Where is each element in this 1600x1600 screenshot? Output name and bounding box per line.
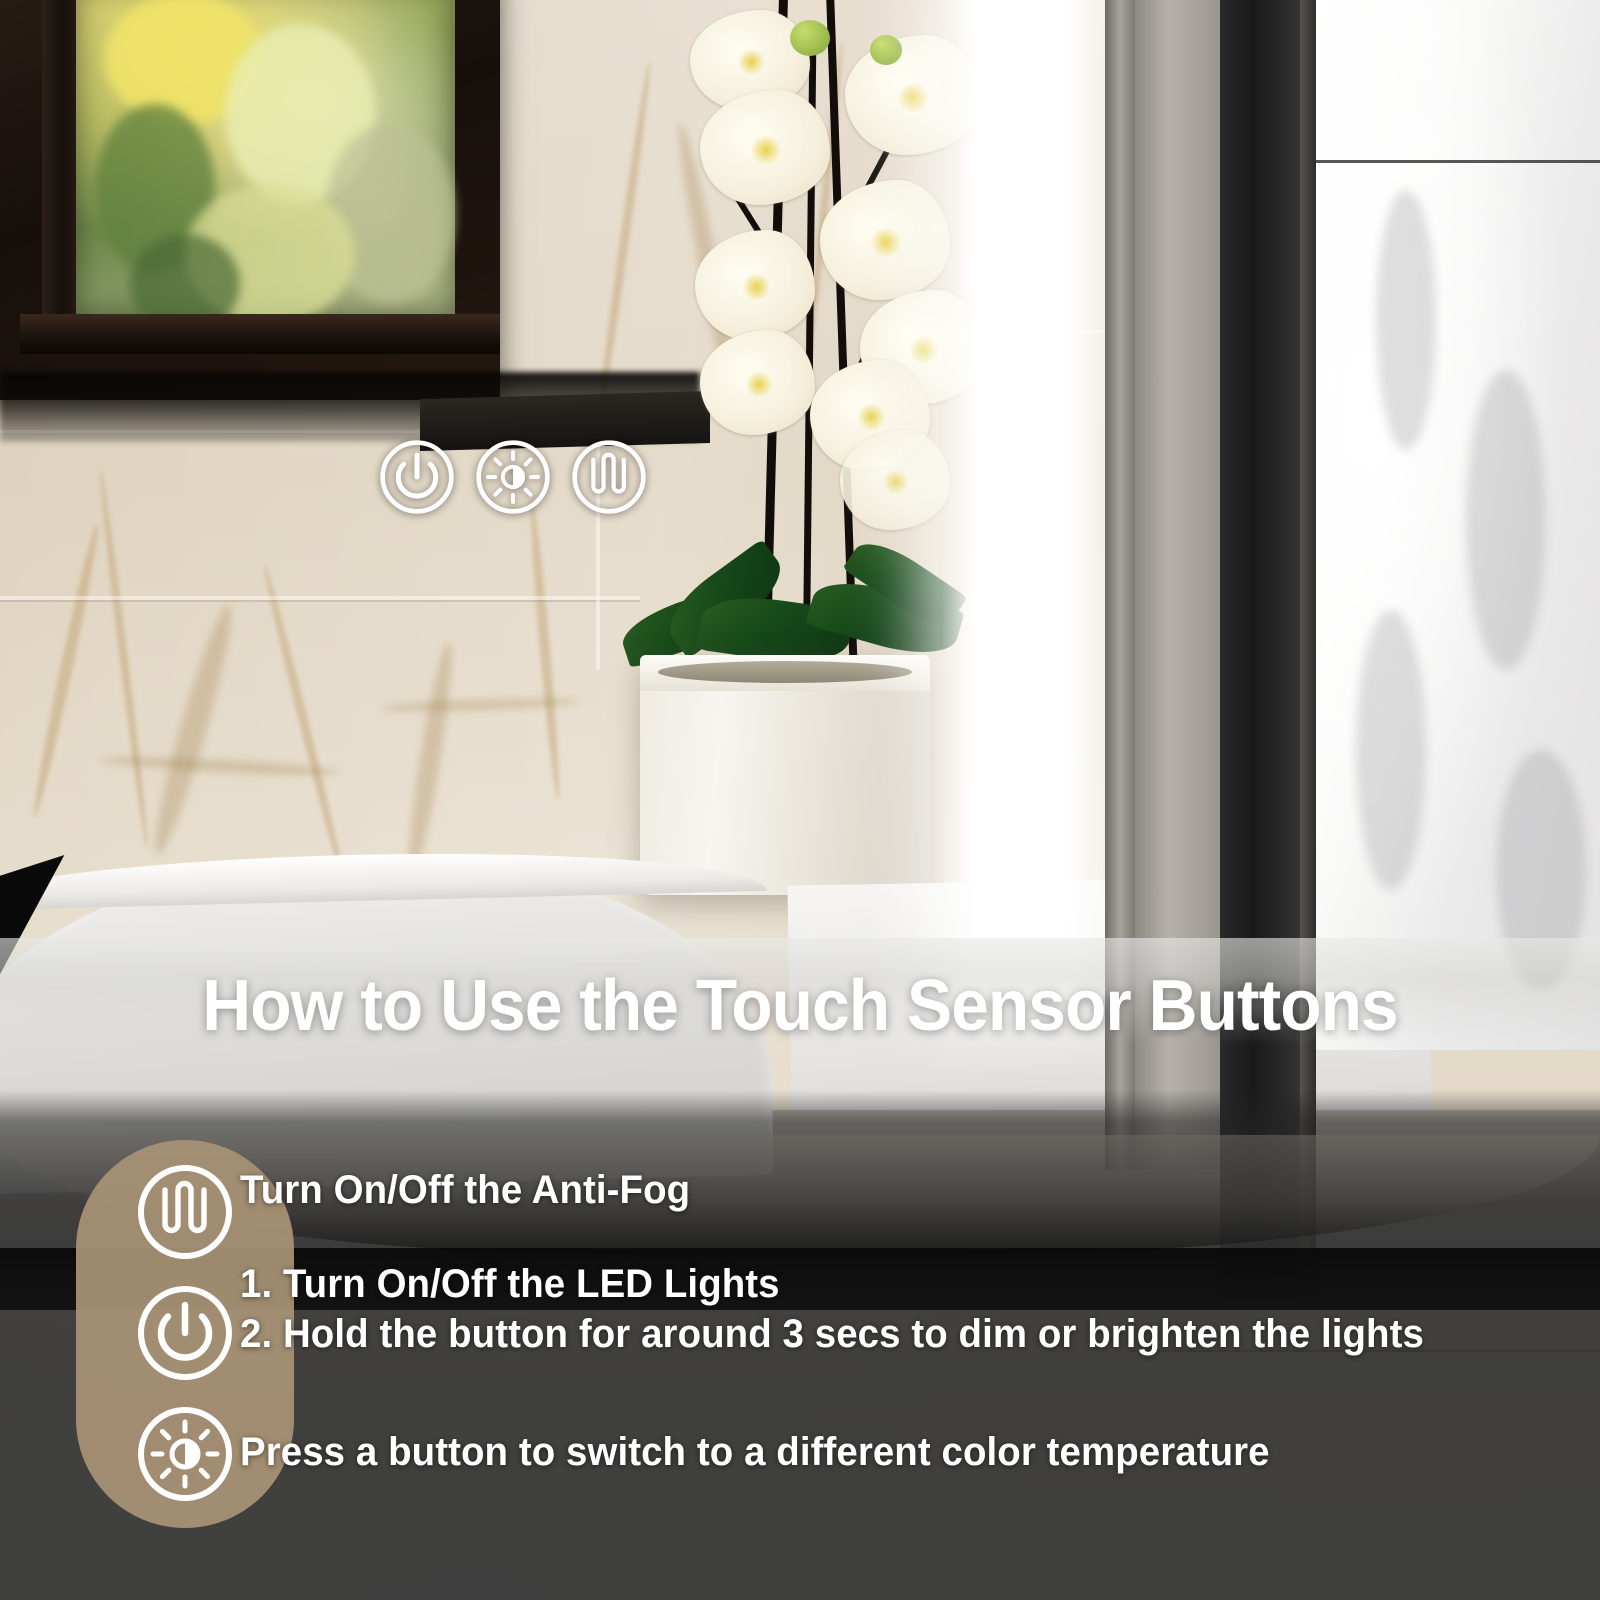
infographic-canvas: How to Use the Touch Sensor Buttons Turn… [0,0,1600,1600]
anti-fog-icon[interactable] [135,1162,235,1262]
page-title: How to Use the Touch Sensor Buttons [48,965,1552,1047]
led-caption-line-1: 1. Turn On/Off the LED Lights [240,1262,780,1307]
window-glass-foliage [75,0,455,314]
power-icon[interactable] [378,438,456,516]
color-temp-caption: Press a button to switch to a different … [240,1430,1270,1475]
anti-fog-icon[interactable] [570,438,648,516]
window-frame [0,0,500,400]
window-sill [20,314,500,354]
brightness-icon[interactable] [135,1404,235,1504]
orchid-bud [870,35,902,65]
led-light-strip [940,0,1105,1000]
brightness-icon[interactable] [474,438,552,516]
orchid-bud [790,20,830,56]
marble-vein [1356,610,1426,890]
marble-vein [1466,370,1546,670]
marble-tile-seam [1316,160,1600,163]
anti-fog-caption: Turn On/Off the Anti-Fog [240,1168,690,1213]
plant-pot [640,655,930,895]
marble-vein [1376,190,1436,450]
tile-grout-line [0,600,640,602]
led-caption-line-2: 2. Hold the button for around 3 secs to … [240,1312,1424,1357]
window-mullion [42,0,76,330]
pot-interior [658,661,912,683]
touch-sensor-button-row [378,438,648,516]
power-icon[interactable] [135,1283,235,1383]
white-marble-wall [1316,0,1600,1050]
